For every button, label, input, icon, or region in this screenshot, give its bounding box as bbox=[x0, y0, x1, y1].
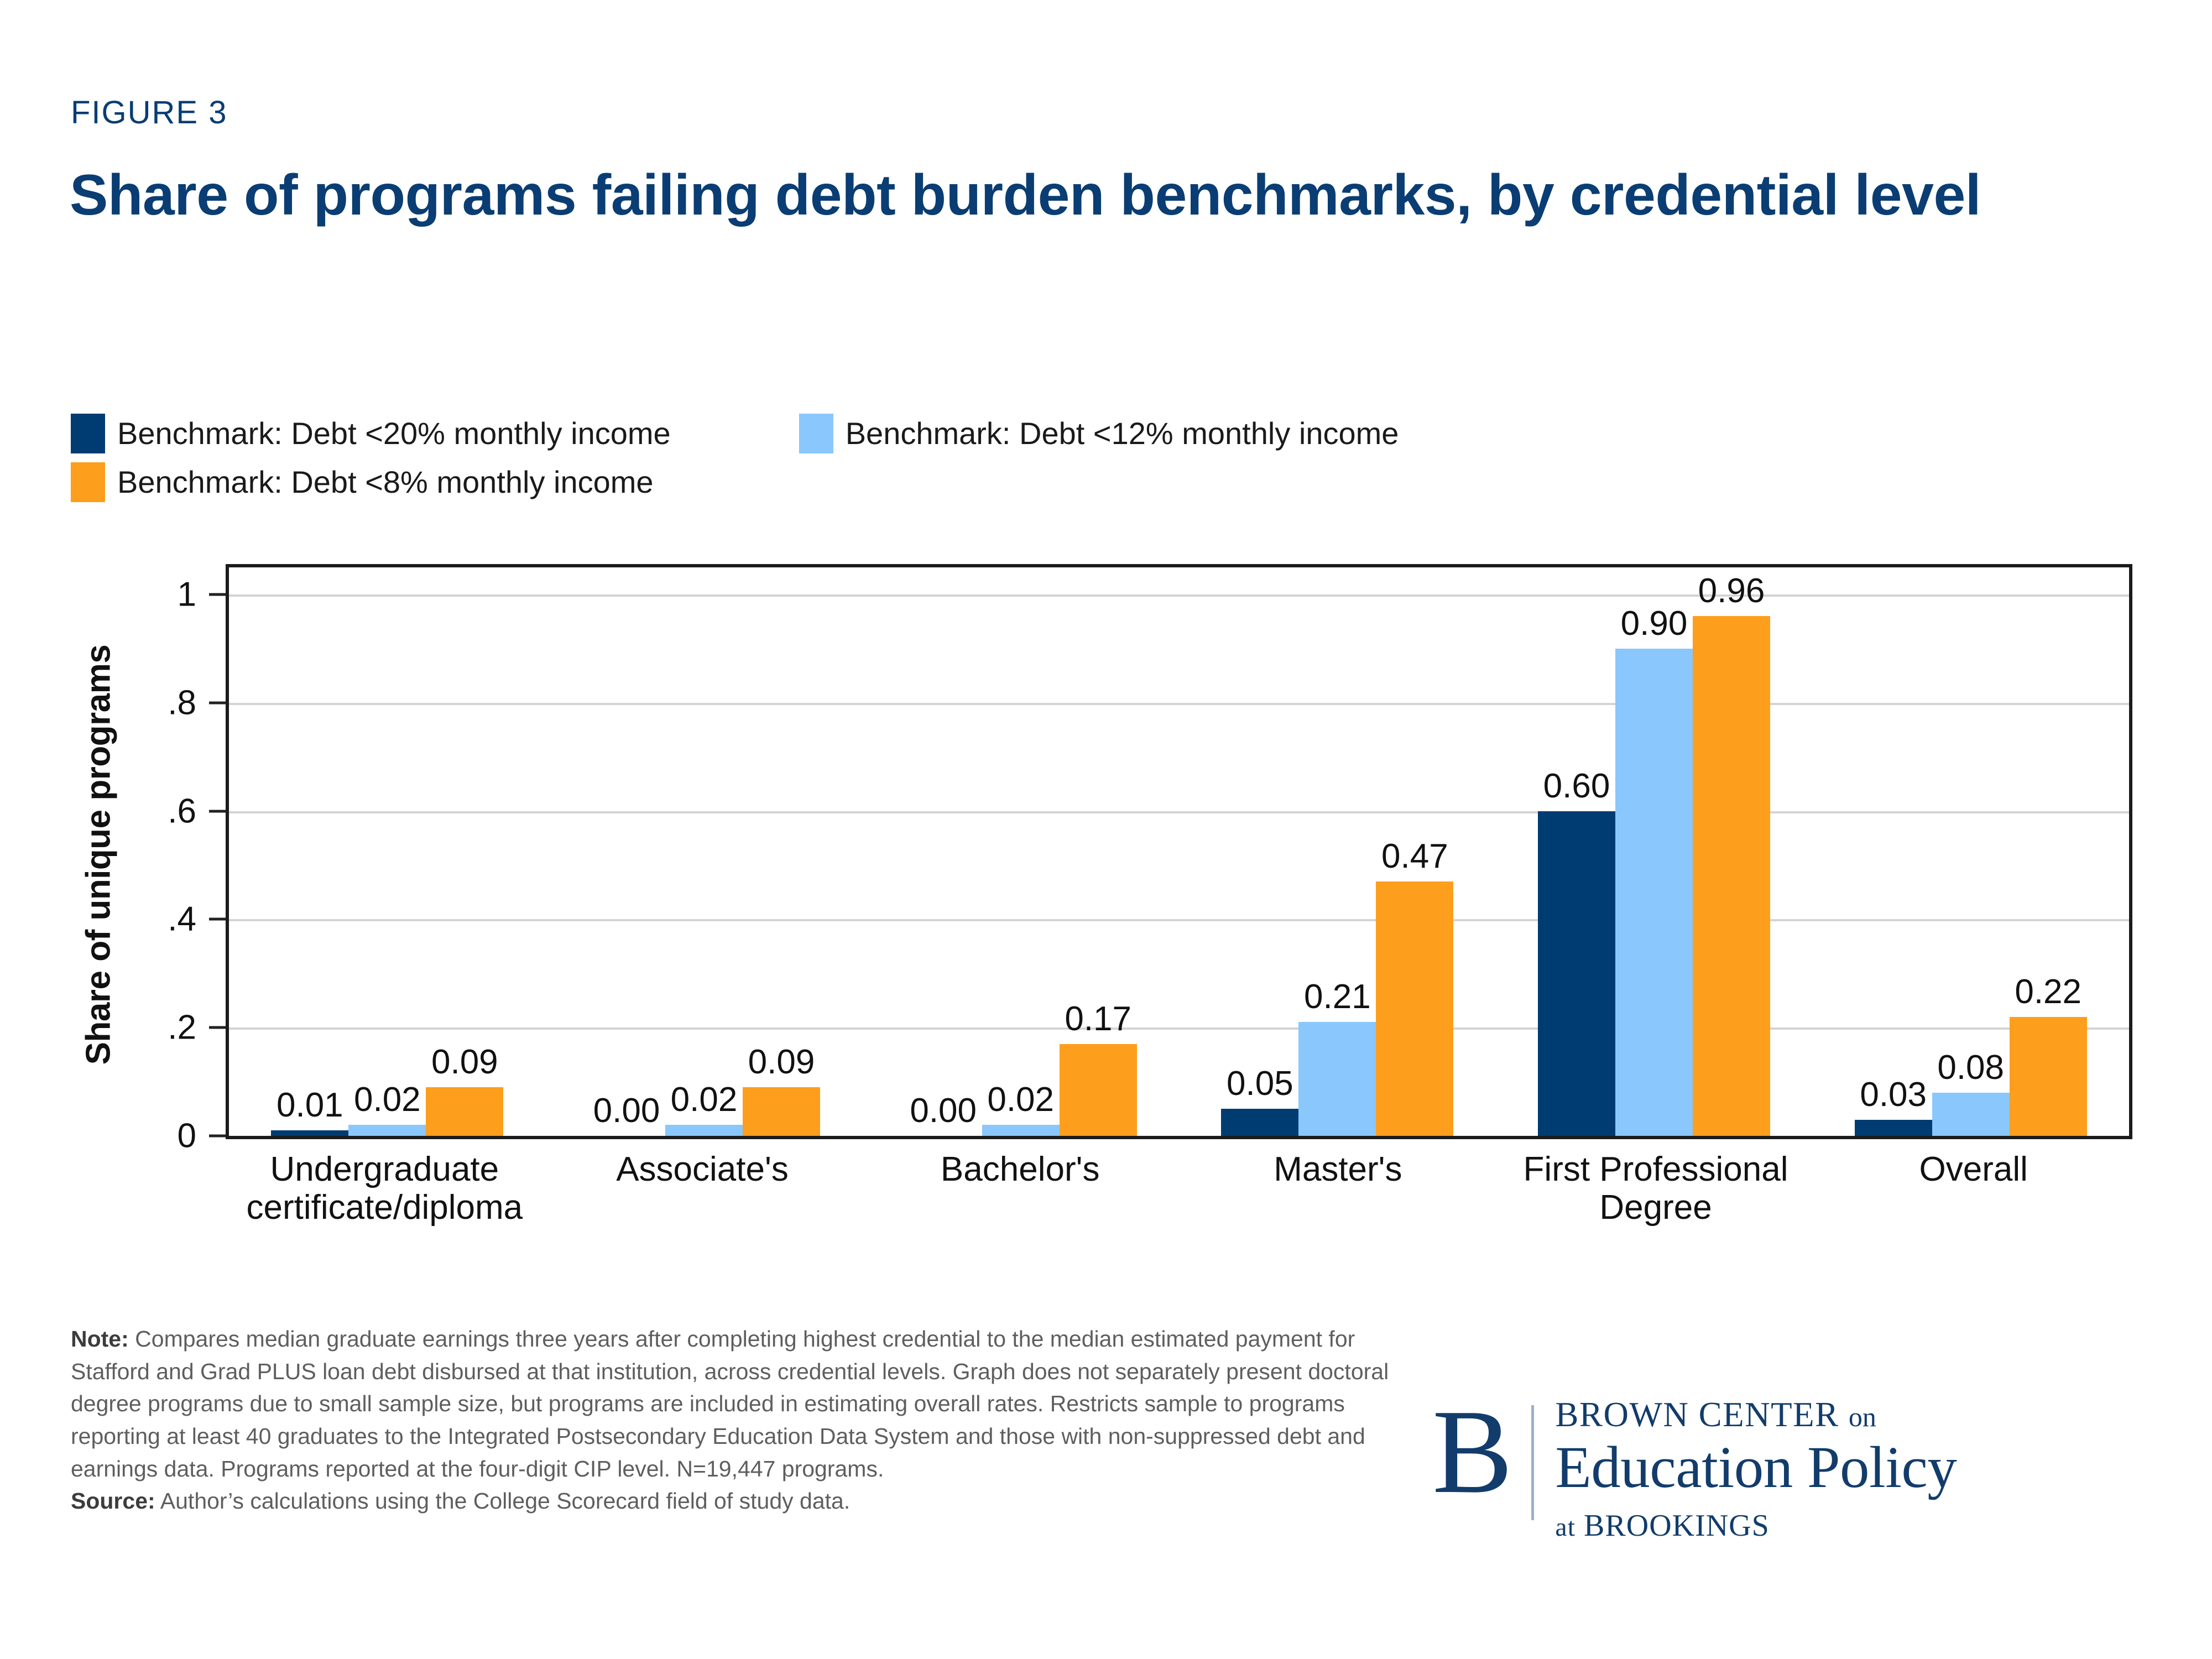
logo-line-2: Education Policy bbox=[1555, 1433, 1957, 1503]
x-tick-label: Master's bbox=[1179, 1150, 1497, 1227]
bar-value-label: 0.09 bbox=[431, 1042, 498, 1082]
bar-value-label: 0.03 bbox=[1860, 1075, 1927, 1114]
bar-value-label: 0.02 bbox=[987, 1080, 1054, 1119]
logo-line-3: at BROOKINGS bbox=[1555, 1508, 1957, 1543]
y-tick-label: 0 bbox=[97, 1117, 196, 1156]
legend-item-0[interactable]: Benchmark: Debt <20% monthly income bbox=[71, 414, 671, 453]
bar-group: 0.050.210.47 bbox=[1179, 567, 1496, 1136]
note-body: Compares median graduate earnings three … bbox=[71, 1326, 1389, 1481]
x-tick-label: Associate's bbox=[544, 1150, 862, 1227]
legend-label: Benchmark: Debt <8% monthly income bbox=[117, 467, 654, 498]
y-tick-label: 1 bbox=[97, 575, 196, 614]
y-tick-label: .8 bbox=[97, 683, 196, 722]
y-tick-label: .6 bbox=[97, 791, 196, 831]
bar-value-label: 0.09 bbox=[748, 1042, 815, 1082]
bar-group: 0.000.020.17 bbox=[862, 567, 1179, 1136]
bar-value-label: 0.96 bbox=[1698, 571, 1765, 611]
x-tick-label: First ProfessionalDegree bbox=[1497, 1150, 1815, 1227]
y-tick-mark bbox=[209, 1135, 226, 1138]
legend-row-2: Benchmark: Debt <8% monthly income bbox=[71, 458, 2117, 507]
y-axis-tick-labels: 0.2.4.6.81 bbox=[97, 564, 196, 1139]
bar-group: 0.030.080.22 bbox=[1812, 567, 2129, 1136]
bar-value-label: 0.08 bbox=[1937, 1048, 2004, 1087]
y-tick-mark bbox=[209, 701, 226, 704]
logo-monogram: B bbox=[1432, 1396, 1531, 1509]
bar[interactable]: 0.09 bbox=[743, 1087, 820, 1136]
y-axis-tick-marks bbox=[209, 564, 226, 1139]
bar[interactable]: 0.21 bbox=[1298, 1022, 1376, 1136]
bar[interactable]: 0.96 bbox=[1693, 616, 1770, 1136]
legend-item-2[interactable]: Benchmark: Debt <8% monthly income bbox=[71, 462, 654, 502]
logo-brookings: BROOKINGS bbox=[1584, 1509, 1770, 1543]
bar-groups: 0.010.020.090.000.020.090.000.020.170.05… bbox=[229, 567, 2129, 1136]
y-tick-mark bbox=[209, 918, 226, 921]
bar[interactable]: 0.02 bbox=[665, 1125, 743, 1136]
legend-swatch-icon bbox=[71, 414, 105, 453]
x-tick-label: Bachelor's bbox=[861, 1150, 1179, 1227]
bar-value-label: 0.00 bbox=[910, 1091, 977, 1130]
plot-area: 0.010.020.090.000.020.090.000.020.170.05… bbox=[226, 564, 2132, 1139]
x-axis-labels: Undergraduatecertificate/diplomaAssociat… bbox=[226, 1150, 2132, 1227]
legend-label: Benchmark: Debt <12% monthly income bbox=[846, 418, 1399, 449]
note-text: Note: Compares median graduate earnings … bbox=[71, 1323, 1431, 1517]
logo-line-1: BROWN CENTER on bbox=[1555, 1396, 1957, 1433]
bar-chart: Share of unique programs 0.2.4.6.81 0.01… bbox=[0, 564, 2212, 1305]
y-tick-mark bbox=[209, 810, 226, 812]
legend-row-1: Benchmark: Debt <20% monthly income Benc… bbox=[71, 409, 2117, 458]
logo-on: on bbox=[1849, 1401, 1876, 1432]
bar[interactable]: 0.60 bbox=[1538, 811, 1615, 1136]
legend-swatch-icon bbox=[799, 414, 833, 453]
y-tick-mark bbox=[209, 1026, 226, 1029]
bar[interactable]: 0.47 bbox=[1376, 881, 1453, 1136]
y-tick-mark bbox=[209, 593, 226, 596]
bar[interactable]: 0.02 bbox=[982, 1125, 1060, 1136]
bar-group: 0.010.020.09 bbox=[229, 567, 546, 1136]
bar-value-label: 0.60 bbox=[1543, 766, 1610, 806]
bar-value-label: 0.05 bbox=[1227, 1064, 1293, 1103]
legend-label: Benchmark: Debt <20% monthly income bbox=[117, 418, 671, 449]
brookings-logo: B BROWN CENTER on Education Policy at BR… bbox=[1432, 1396, 1957, 1543]
bar-value-label: 0.22 bbox=[2015, 972, 2081, 1011]
x-tick-label: Overall bbox=[1814, 1150, 2132, 1227]
bar[interactable]: 0.02 bbox=[348, 1125, 426, 1136]
bar-group: 0.600.900.96 bbox=[1496, 567, 1813, 1136]
bar[interactable]: 0.09 bbox=[426, 1087, 503, 1136]
bar[interactable]: 0.01 bbox=[271, 1130, 348, 1136]
bar-value-label: 0.17 bbox=[1065, 999, 1131, 1039]
bar[interactable]: 0.05 bbox=[1221, 1109, 1298, 1136]
y-tick-label: .4 bbox=[97, 900, 196, 939]
logo-divider bbox=[1531, 1405, 1534, 1520]
legend-swatch-icon bbox=[71, 462, 105, 502]
source-label: Source: bbox=[71, 1488, 155, 1514]
note-label: Note: bbox=[71, 1326, 129, 1352]
figure-label: FIGURE 3 bbox=[71, 94, 228, 131]
x-tick-label: Undergraduatecertificate/diploma bbox=[226, 1150, 544, 1227]
bar[interactable]: 0.22 bbox=[2010, 1017, 2087, 1136]
logo-at: at bbox=[1555, 1512, 1575, 1542]
logo-wordmark: BROWN CENTER on Education Policy at BROO… bbox=[1555, 1396, 1957, 1543]
bar-value-label: 0.02 bbox=[354, 1080, 421, 1119]
page-title: Share of programs failing debt burden be… bbox=[70, 160, 2027, 231]
bar-value-label: 0.02 bbox=[671, 1080, 738, 1119]
logo-brown-center: BROWN CENTER bbox=[1555, 1395, 1839, 1434]
bar-value-label: 0.90 bbox=[1621, 604, 1688, 643]
bar[interactable]: 0.90 bbox=[1615, 649, 1693, 1136]
bar[interactable]: 0.17 bbox=[1060, 1044, 1137, 1136]
bar-group: 0.000.020.09 bbox=[546, 567, 863, 1136]
bar[interactable]: 0.03 bbox=[1855, 1120, 1932, 1136]
bar-value-label: 0.21 bbox=[1304, 977, 1371, 1016]
source-body: Author’s calculations using the College … bbox=[155, 1488, 851, 1514]
figure-page: FIGURE 3 Share of programs failing debt … bbox=[0, 0, 2212, 1659]
bar-value-label: 0.00 bbox=[593, 1091, 660, 1130]
legend-item-1[interactable]: Benchmark: Debt <12% monthly income bbox=[799, 414, 1399, 453]
bar[interactable]: 0.08 bbox=[1932, 1093, 2010, 1136]
bar-value-label: 0.01 bbox=[276, 1086, 343, 1125]
y-tick-label: .2 bbox=[97, 1008, 196, 1047]
chart-legend: Benchmark: Debt <20% monthly income Benc… bbox=[71, 409, 2117, 507]
bar-value-label: 0.47 bbox=[1381, 837, 1448, 876]
